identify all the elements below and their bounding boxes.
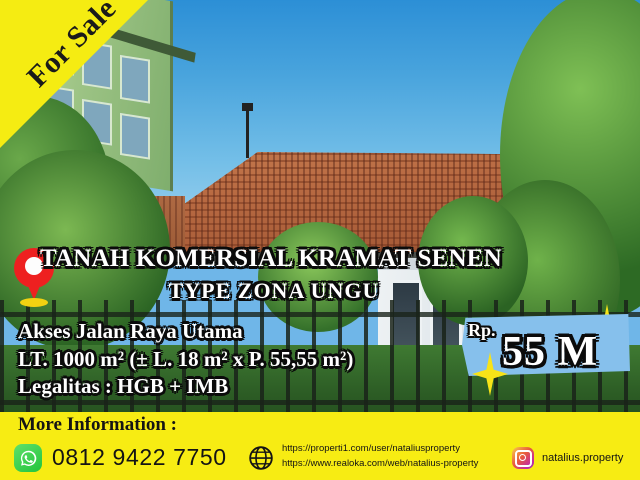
detail-line: LT. 1000 m² (± L. 18 m² x P. 55,55 m²): [18, 346, 353, 374]
price-amount: 55 M: [502, 328, 598, 376]
globe-icon: [248, 445, 274, 471]
detail-line: Legalitas : HGB + IMB: [18, 373, 353, 401]
instagram-handle[interactable]: natalius.property: [542, 452, 623, 464]
for-sale-banner: For Sale: [0, 0, 200, 200]
website-links[interactable]: https://properti1.com/user/nataliusprope…: [282, 441, 478, 472]
listing-subtitle: TYPE ZONA UNGU: [40, 278, 548, 304]
listing-details: Akses Jalan Raya Utama LT. 1000 m² (± L.…: [18, 318, 353, 401]
more-information-heading: More Information :: [18, 414, 177, 436]
detail-line: Akses Jalan Raya Utama: [18, 318, 353, 346]
website-link[interactable]: https://properti1.com/user/nataliusprope…: [282, 441, 478, 456]
price-currency-label: Rp.: [468, 320, 496, 341]
listing-title: TANAH KOMERSIAL KRAMAT SENEN: [40, 246, 548, 273]
phone-number[interactable]: 0812 9422 7750: [52, 444, 227, 471]
whatsapp-icon[interactable]: [14, 444, 42, 472]
website-link[interactable]: https://www.realoka.com/web/natalius-pro…: [282, 456, 478, 471]
antenna: [246, 108, 249, 158]
instagram-icon[interactable]: [512, 447, 534, 469]
property-listing-poster: For Sale TANAH KOMERSIAL KRAMAT SENEN TY…: [0, 0, 640, 480]
listing-title-block: TANAH KOMERSIAL KRAMAT SENEN TYPE ZONA U…: [40, 246, 548, 304]
